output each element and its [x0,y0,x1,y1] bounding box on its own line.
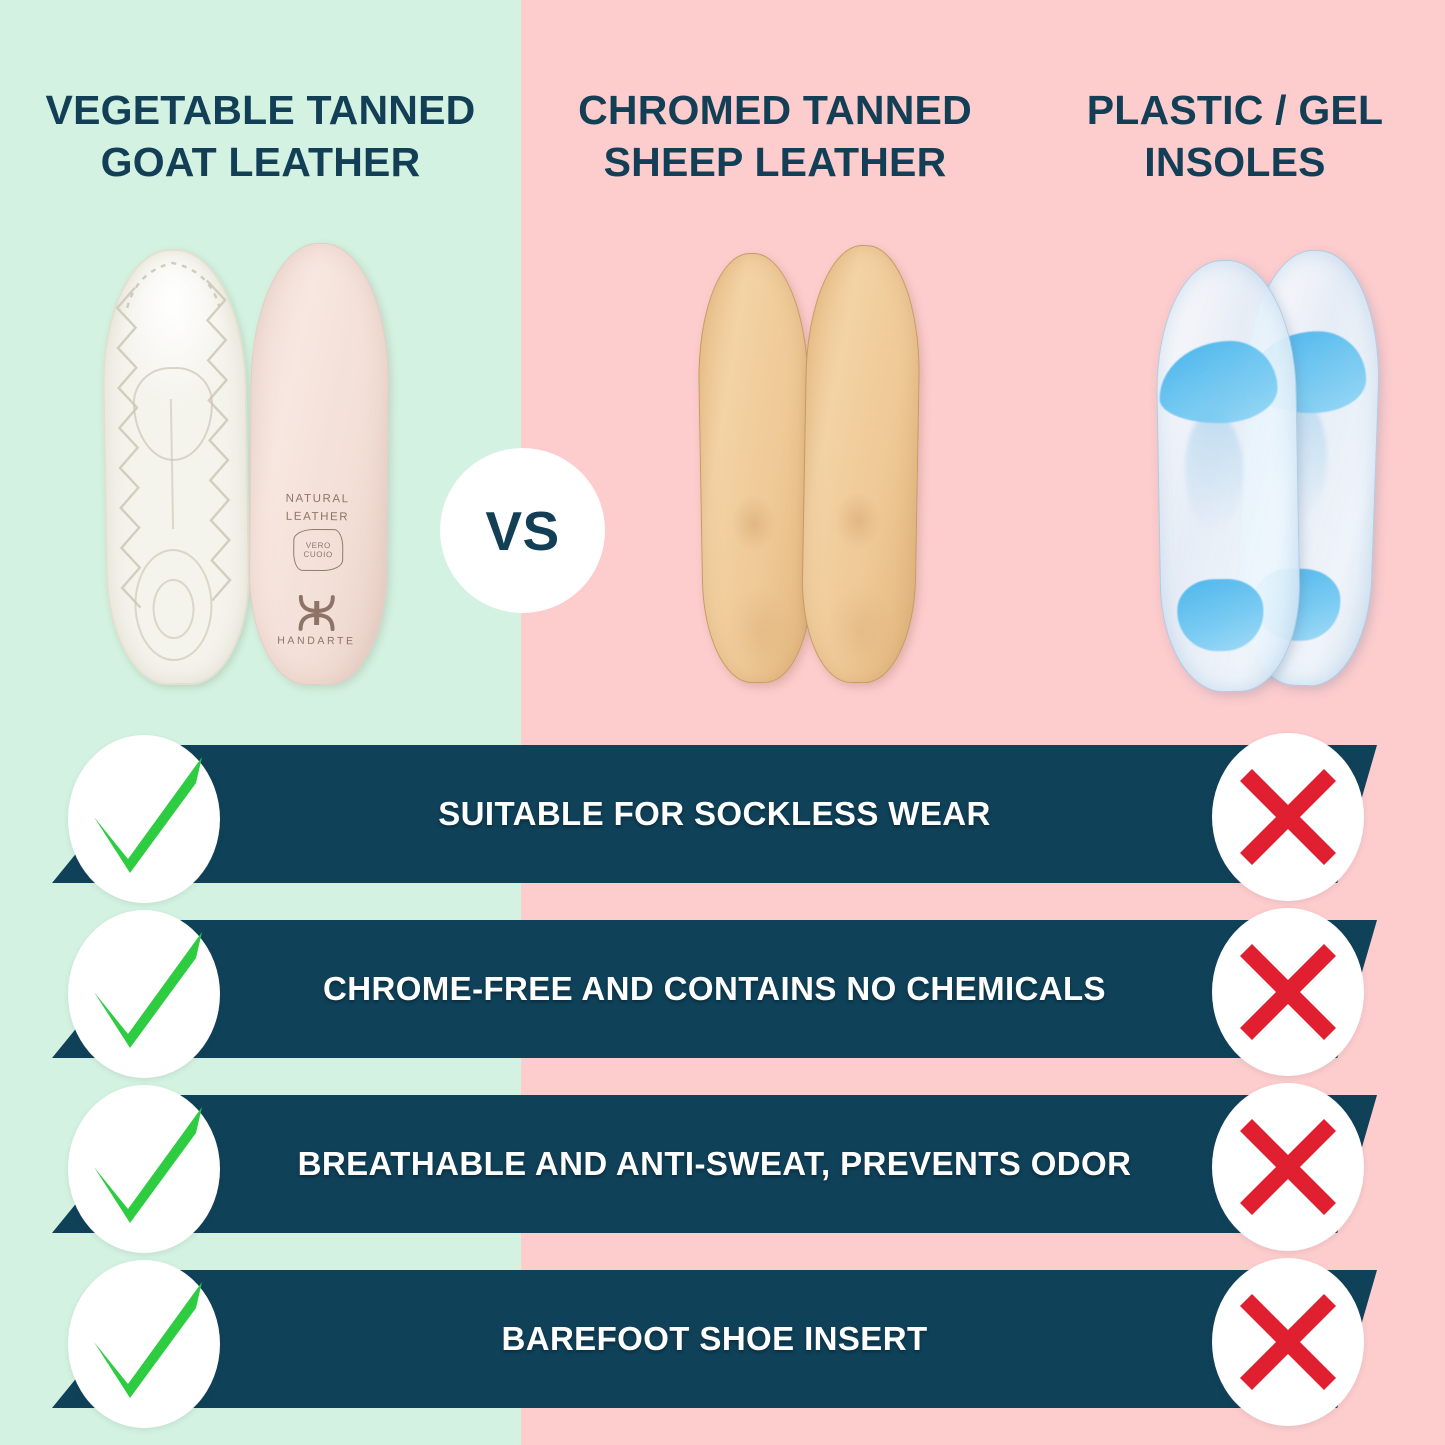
vero-cuoio-hide-badge-icon: VERO CUOIO [293,529,343,571]
column-heading-sheep-leather: CHROMED TANNED SHEEP LEATHER [530,84,1020,188]
vs-label: VS [485,499,559,563]
check-icon [68,1260,220,1428]
gel-forefoot-pad [1159,340,1278,424]
goat-insole-topside: NATURAL LEATHER VERO CUOIO HANDARTE [248,242,388,683]
check-icon [68,910,220,1078]
feature-row: SUITABLE FOR SOCKLESS WEAR [0,735,1445,910]
check-icon [68,1085,220,1253]
feature-row: CHROME-FREE AND CONTAINS NO CHEMICALS [0,910,1445,1085]
cross-icon [1212,1083,1364,1251]
product-image-gel-insoles [1150,250,1400,690]
feature-banner [52,920,1377,1058]
stamp-vero-text: VERO [306,540,331,550]
cross-icon [1212,908,1364,1076]
cross-icon [1212,1258,1364,1426]
stamp-leather-text: LEATHER [267,511,367,524]
gel-insole-front [1154,259,1299,691]
stamp-natural-text: NATURAL [268,493,368,506]
column-heading-gel-insoles: PLASTIC / GEL INSOLES [1035,84,1435,188]
product-image-sheep-leather-insoles [700,245,920,685]
sheep-insole-left [696,252,811,682]
column-heading-goat-leather: VEGETABLE TANNED GOAT LEATHER [18,84,503,188]
check-icon [68,735,220,903]
feature-banner [52,1270,1377,1408]
feature-row: BREATHABLE AND ANTI-SWEAT, PREVENTS ODOR [0,1085,1445,1260]
vs-badge: VS [440,448,605,613]
infographic-canvas: VEGETABLE TANNED GOAT LEATHER CHROMED TA… [0,0,1445,1445]
cross-icon [1212,733,1364,901]
product-image-goat-leather-insoles: NATURAL LEATHER VERO CUOIO HANDARTE [98,243,388,688]
stamp-cuoio-text: CUOIO [304,550,333,560]
stamp-brand-text: HANDARTE [268,635,364,648]
feature-banner [52,745,1377,883]
feature-row: BAREFOOT SHOE INSERT [0,1260,1445,1435]
embossed-stitch-pattern-left [109,286,149,617]
gel-heel-pad [1177,578,1264,651]
sheep-insole-right [800,244,920,682]
embossed-toe-stitching [122,256,223,314]
goat-insole-underside [100,248,248,682]
feature-banner [52,1095,1377,1233]
handarte-monogram-icon [297,595,337,631]
embossed-stitch-pattern-right [199,278,239,619]
